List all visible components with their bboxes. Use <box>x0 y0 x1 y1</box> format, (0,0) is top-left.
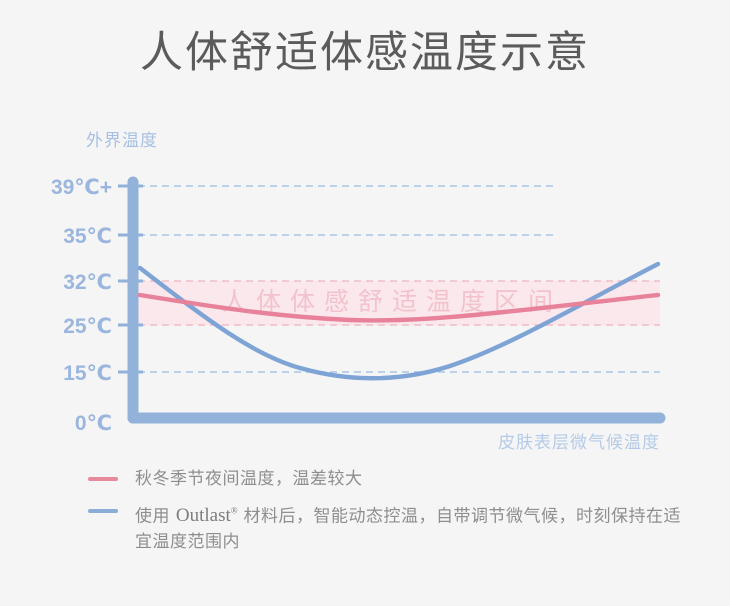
legend-swatch-blue <box>88 509 118 513</box>
chart-legend: 秋冬季节夜间温度，温差较大 使用 Outlast® 材料后，智能动态控温，自带调… <box>88 466 688 561</box>
ytick-label-1: 35℃ <box>63 225 112 248</box>
legend-prefix: 使用 <box>135 506 176 526</box>
gridlines <box>126 186 660 372</box>
y-axis-title: 外界温度 <box>86 131 158 151</box>
ytick-label-0: 39℃+ <box>51 176 112 199</box>
ytick-label-5: 0℃ <box>75 412 112 435</box>
chart-svg: 外界温度 人体体感舒适温度区间 <box>0 118 730 458</box>
ytick-label-3: 25℃ <box>63 315 112 338</box>
legend-label-outlast: 使用 Outlast® 材料后，智能动态控温，自带调节微气候，时刻保持在适宜温度… <box>135 498 688 555</box>
x-axis-title: 皮肤表层微气候温度 <box>498 433 660 453</box>
brand-name-outlast: Outlast® <box>176 505 238 526</box>
legend-swatch-pink <box>88 477 118 481</box>
legend-item-autumn-winter: 秋冬季节夜间温度，温差较大 <box>88 466 688 492</box>
legend-item-outlast: 使用 Outlast® 材料后，智能动态控温，自带调节微气候，时刻保持在适宜温度… <box>88 498 688 555</box>
infographic-page: 人体舒适体感温度示意 外界温度 人体体感舒适温度区间 <box>0 0 730 606</box>
temperature-comfort-chart: 外界温度 人体体感舒适温度区间 <box>0 118 730 458</box>
y-tick-labels: 39℃+ 35℃ 32℃ 25℃ 15℃ 0℃ <box>51 176 112 435</box>
brand-word: Outlast <box>176 505 231 526</box>
page-title: 人体舒适体感温度示意 <box>0 28 730 80</box>
ytick-label-2: 32℃ <box>63 271 112 294</box>
ytick-label-4: 15℃ <box>63 362 112 385</box>
legend-label-autumn-winter: 秋冬季节夜间温度，温差较大 <box>135 466 363 492</box>
registered-mark-icon: ® <box>231 506 238 516</box>
